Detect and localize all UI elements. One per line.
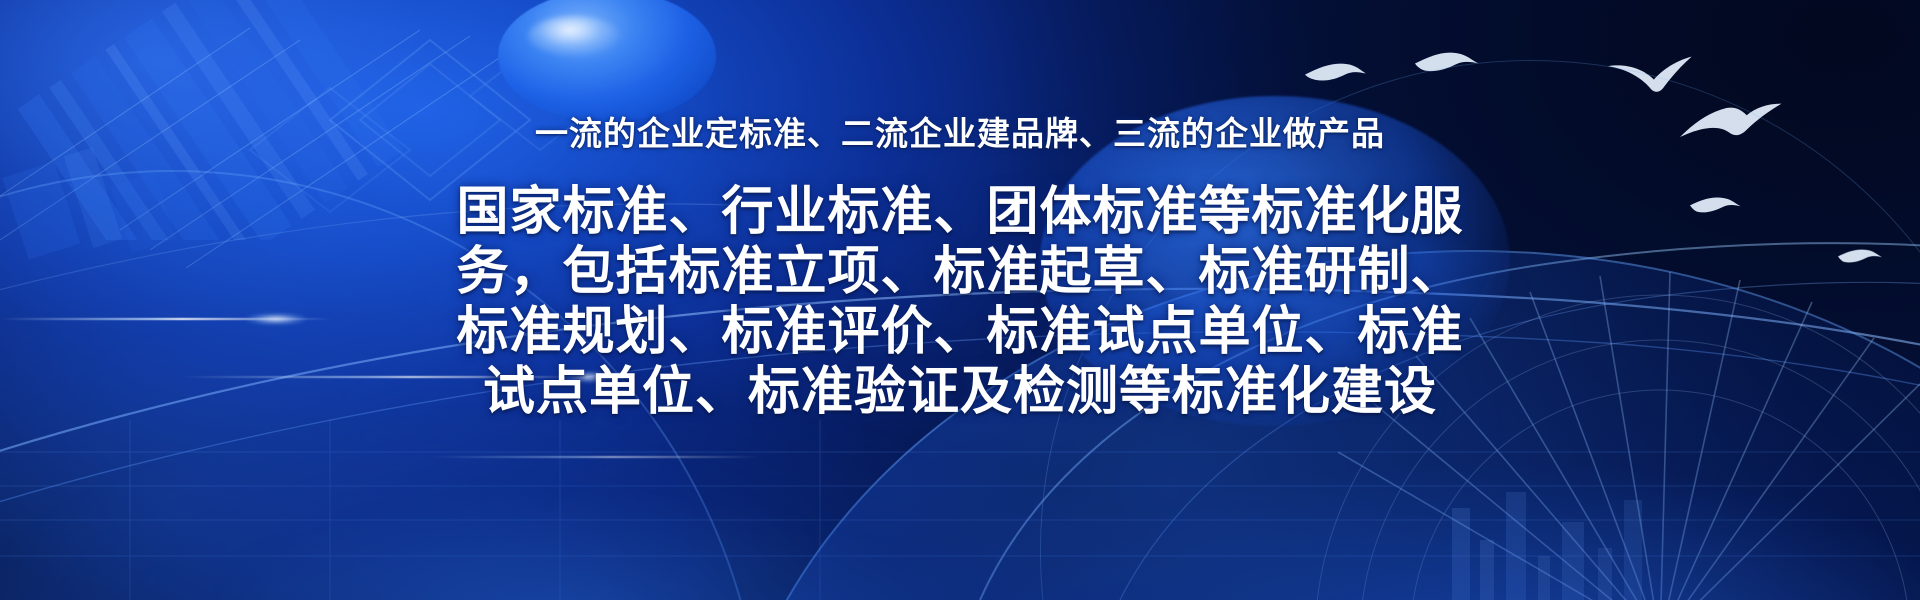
banner-paragraph: 国家标准、行业标准、团体标准等标准化服务，包括标准立项、标准起草、标准研制、标准…	[440, 182, 1480, 422]
promo-banner: 一流的企业定标准、二流企业建品牌、三流的企业做产品 国家标准、行业标准、团体标准…	[0, 0, 1920, 600]
banner-text-block: 一流的企业定标准、二流企业建品牌、三流的企业做产品 国家标准、行业标准、团体标准…	[0, 0, 1920, 422]
banner-headline: 一流的企业定标准、二流企业建品牌、三流的企业做产品	[0, 112, 1920, 156]
light-streak	[430, 456, 760, 458]
